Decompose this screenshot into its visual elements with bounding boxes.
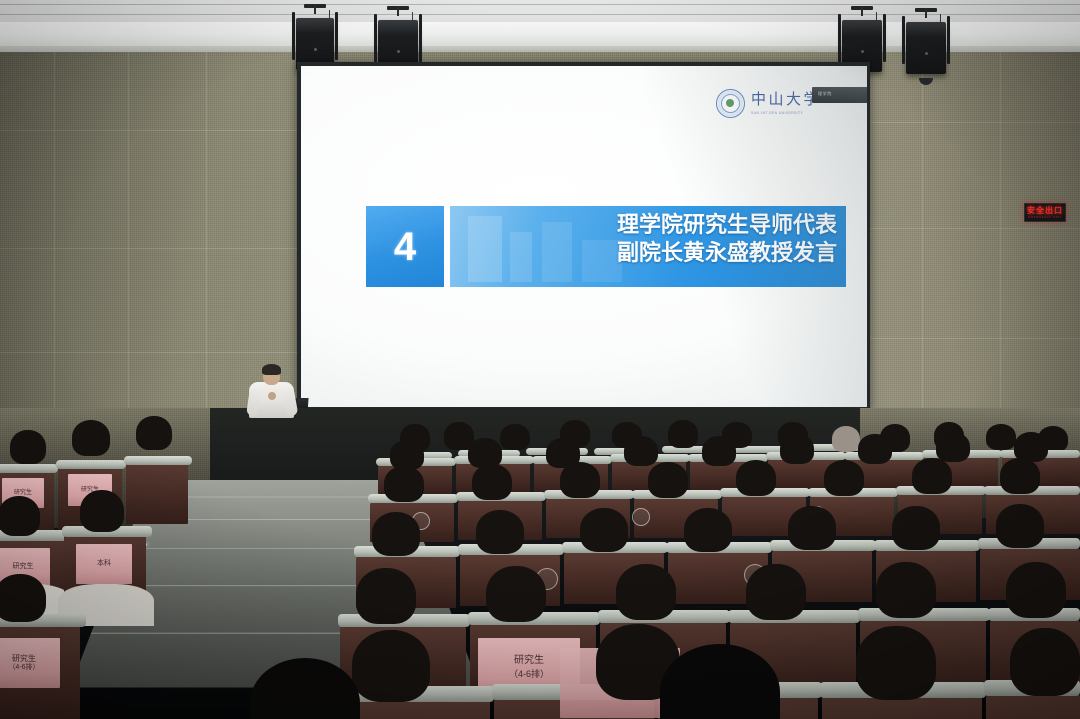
slide-heading-line1: 理学院研究生导师代表 [617, 211, 837, 239]
seat-sign-line1: 研究生 [514, 655, 544, 667]
seat-sign-line2: （4-6排） [509, 669, 549, 679]
seat-sign: 本科 [76, 544, 132, 584]
slide-number: 4 [394, 227, 416, 267]
seat-sign-line2: （4-6排） [8, 664, 39, 672]
seat-sign: 研究生 （4-6排） [0, 638, 60, 688]
slide-banner: 4 理学院研究生导师代表 副院长黄永盛教授发言 [366, 206, 846, 287]
slide-number-block: 4 [366, 206, 444, 287]
seat-sign-line1: 研究生 [12, 654, 36, 663]
presenter-hand [268, 392, 276, 400]
slide-banner-body: 理学院研究生导师代表 副院长黄永盛教授发言 [450, 206, 846, 287]
slide-logo: 中山大学 SUN YAT-SEN UNIVERSITY 理学院 [716, 89, 821, 118]
ceiling-speaker-icon [902, 8, 950, 80]
seat-crest-icon [632, 508, 650, 526]
presenter-hair [262, 364, 281, 375]
ceiling-seam [0, 4, 1080, 5]
seat-sign-line1: 本科 [97, 560, 111, 568]
university-chinese-name: 中山大学 [751, 93, 821, 108]
university-english-name: SUN YAT-SEN UNIVERSITY [751, 111, 821, 115]
exit-sign-label: 安全出口 [1027, 207, 1063, 215]
projection-screen: 中山大学 SUN YAT-SEN UNIVERSITY 理学院 4 理学院研究生… [301, 66, 867, 407]
logo-redaction-bar: 理学院 [812, 87, 867, 103]
slide-heading: 理学院研究生导师代表 副院长黄永盛教授发言 [617, 211, 837, 267]
seat-sign-line1: 研究生 [13, 563, 34, 571]
auditorium-photo: 中山大学 SUN YAT-SEN UNIVERSITY 理学院 4 理学院研究生… [0, 0, 1080, 719]
audience-seating-area: 研究生 研究生 研究生 本科 [0, 408, 1080, 719]
sun-yat-sen-university-emblem-icon [716, 89, 745, 118]
exit-sign-sublabel: EMERGENCY EXIT [1028, 216, 1062, 219]
logo-redaction-label: 理学院 [818, 91, 832, 97]
emergency-exit-sign: 安全出口 EMERGENCY EXIT [1024, 203, 1066, 222]
slide-heading-line2: 副院长黄永盛教授发言 [617, 239, 837, 267]
